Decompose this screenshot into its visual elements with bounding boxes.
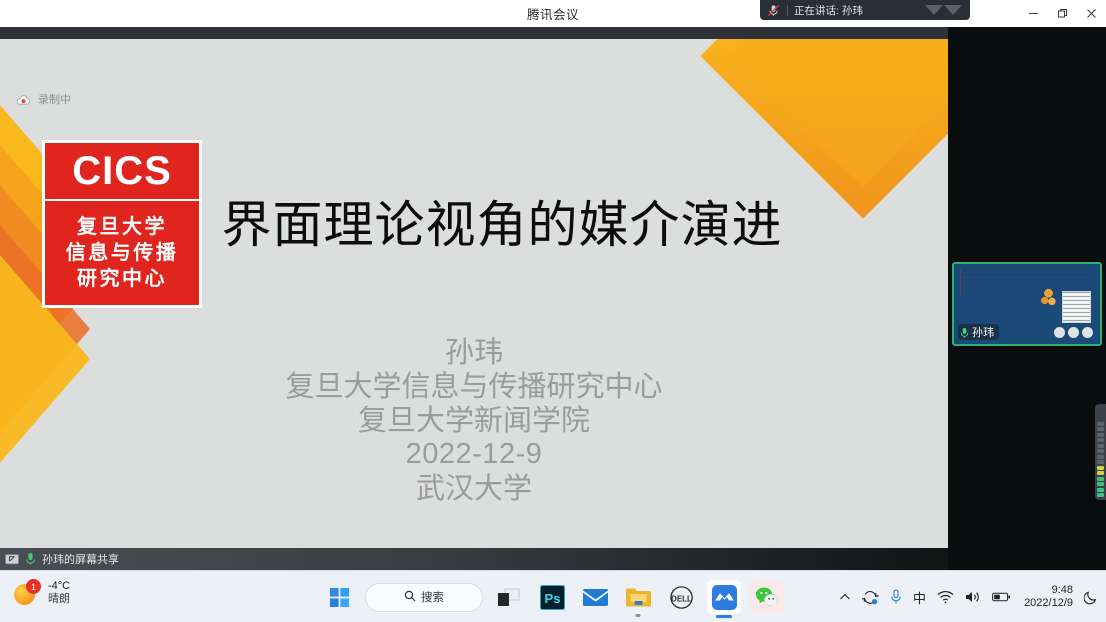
cics-logo: CICS 复旦大学 信息与传播 研究中心 [42,140,202,308]
cloud-record-icon [16,93,31,105]
taskbar-center-group: 搜索 Ps [322,571,784,622]
window-controls [1019,0,1106,27]
desktop-screen: 腾讯会议 正在讲话: 孙玮 [0,0,1106,622]
search-icon [404,590,416,605]
logo-acronym: CICS [72,151,172,191]
clock-date: 2022/12/9 [1024,597,1073,610]
video-background-badges [1054,327,1093,338]
slide-subtitle-block: 孙玮 复旦大学信息与传播研究中心 复旦大学新闻学院 2022-12-9 武汉大学 [0,335,948,505]
logo-line-3: 研究中心 [77,268,167,291]
mic-muted-icon[interactable] [766,3,781,18]
monitor-share-icon [5,553,19,565]
moon-icon[interactable] [1084,590,1098,605]
video-name-label: 孙玮 [958,324,999,340]
subtitle-line-school: 复旦大学新闻学院 [0,403,948,437]
recording-label: 录制中 [38,91,71,107]
tencent-meeting-icon[interactable] [707,580,741,614]
clock-time: 9:48 [1024,584,1073,597]
mail-icon[interactable] [578,580,612,614]
subtitle-line-center: 复旦大学信息与传播研究中心 [0,369,948,403]
presentation-slide: 录制中 CICS 复旦大学 信息与传播 研究中心 界面理论视角的媒介演进 孙玮 … [0,39,948,570]
participant-name: 孙玮 [972,324,994,340]
subtitle-line-date: 2022-12-9 [0,437,948,471]
notification-badge: 1 [26,579,41,594]
restore-button[interactable] [1048,0,1077,27]
taskbar-search-box[interactable]: 搜索 [365,583,483,612]
mic-on-icon [25,552,36,566]
video-tile-sunwei[interactable]: 孙玮 [952,262,1102,346]
weather-text: -4°C 晴朗 [48,580,70,606]
photoshop-icon[interactable]: Ps [535,580,569,614]
window-title: 腾讯会议 [527,4,579,23]
sun-icon: 1 [14,580,40,606]
system-tray: 中 9:48 [839,571,1098,622]
subtitle-line-venue: 武汉大学 [0,471,948,505]
active-speaker-label: 正在讲话: 孙玮 [794,3,919,18]
video-background-poster [1062,291,1091,323]
video-background-flower [1039,286,1058,310]
windows-taskbar: 1 -4°C 晴朗 [0,570,1106,622]
logo-line-2: 信息与传播 [66,242,179,265]
taskbar-clock[interactable]: 9:48 2022/12/9 [1024,584,1073,610]
weather-condition: 晴朗 [48,593,70,606]
task-view-icon[interactable] [492,580,526,614]
file-explorer-icon[interactable] [621,580,655,614]
chevron-up-icon[interactable] [839,592,851,602]
active-speaker-pill[interactable]: 正在讲话: 孙玮 [760,0,970,20]
subtitle-line-author: 孙玮 [0,335,948,369]
ime-indicator[interactable]: 中 [913,588,926,607]
shared-screen-viewport: 录制中 CICS 复旦大学 信息与传播 研究中心 界面理论视角的媒介演进 孙玮 … [0,27,948,570]
pill-divider [787,5,788,16]
svg-text:DELL: DELL [671,594,692,603]
screen-share-status-bar: 孙玮的屏幕共享 [0,548,948,570]
search-placeholder: 搜索 [421,589,444,605]
wifi-icon[interactable] [937,590,954,604]
battery-icon[interactable] [992,591,1011,603]
onedrive-sync-icon[interactable] [862,590,879,605]
dell-icon[interactable]: DELL [664,580,698,614]
minimize-button[interactable] [1019,0,1048,27]
share-top-strip [0,27,948,39]
mic-on-icon [960,326,969,338]
close-button[interactable] [1077,0,1106,27]
recording-indicator: 录制中 [16,91,71,107]
svg-text:Ps: Ps [544,591,560,606]
wechat-icon[interactable] [750,580,784,614]
logo-line-1: 复旦大学 [77,216,167,239]
speaker-icon[interactable] [965,590,981,604]
screen-share-label: 孙玮的屏幕共享 [42,551,119,567]
participants-panel: 孙玮 [948,27,1106,570]
taskbar-weather-widget[interactable]: 1 -4°C 晴朗 [14,580,70,606]
logo-name-block: 复旦大学 信息与传播 研究中心 [45,201,199,305]
microphone-icon[interactable] [890,589,902,605]
weather-temperature: -4°C [48,580,70,593]
drag-handle-icon[interactable] [925,5,962,15]
windows-start-icon[interactable] [322,580,356,614]
audio-level-meter[interactable] [1095,404,1106,500]
logo-acronym-row: CICS [45,143,199,201]
